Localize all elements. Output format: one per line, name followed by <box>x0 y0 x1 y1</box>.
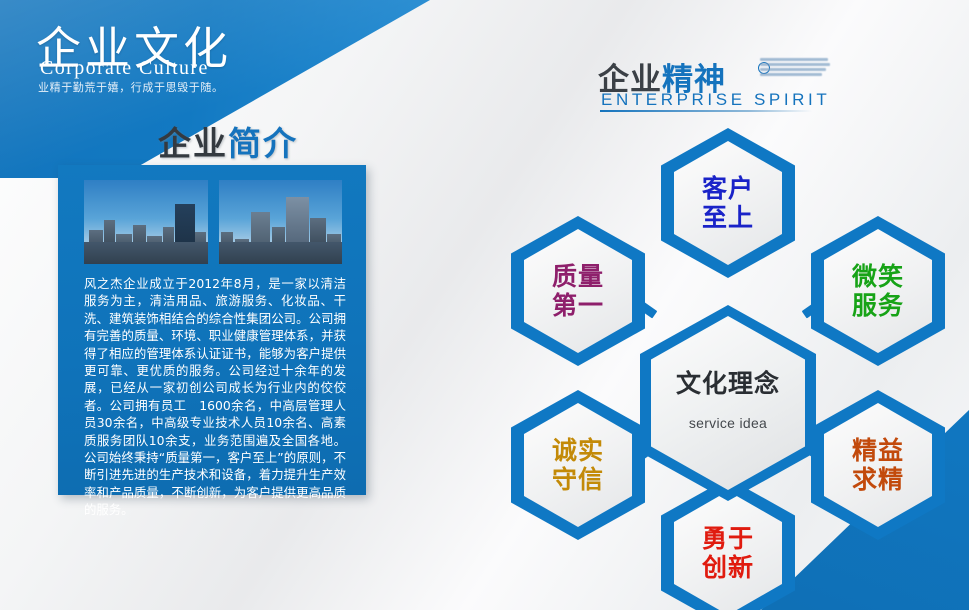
hexagon-quality-first[interactable]: 质量 第一 <box>511 216 645 366</box>
hexagon-smile-service[interactable]: 微笑 服务 <box>811 216 945 366</box>
hex-ul-line2: 第一 <box>552 291 604 320</box>
hex-center-label-en: service idea <box>676 408 780 438</box>
hexagon-center-culture-concept[interactable]: 文化理念 service idea <box>640 305 816 501</box>
section-title-blue: 简介 <box>228 124 298 163</box>
hex-top-line1: 客户 <box>702 174 754 203</box>
hex-ur-line1: 微笑 <box>852 262 904 291</box>
company-profile-text: 风之杰企业成立于2012年8月，是一家以清洁服务为主，清洁用品、旅游服务、化妆品… <box>84 275 346 519</box>
section-title: 企业简介 <box>158 117 298 165</box>
hex-ll-line1: 诚实 <box>552 436 604 465</box>
hexagon-customer-first[interactable]: 客户 至上 <box>661 128 795 278</box>
poster-canvas: 企业文化 Corporate Culture 业精于勤荒于嬉，行成于思毁于随。 … <box>0 0 969 610</box>
cityscape-skyline-photo <box>84 180 208 264</box>
hexagon-honest-trustworthy[interactable]: 诚实 守信 <box>511 390 645 540</box>
header-tagline: 业精于勤荒于嬉，行成于思毁于随。 <box>38 79 224 95</box>
hex-bottom-line1: 勇于 <box>702 524 754 553</box>
skyscraper-towers-photo <box>219 180 343 264</box>
card-photo-row <box>84 180 342 264</box>
hex-bottom-line2: 创新 <box>702 553 754 582</box>
hex-lr-line1: 精益 <box>852 436 904 465</box>
decorative-blurred-text <box>760 58 830 88</box>
hex-ll-line2: 守信 <box>552 465 604 494</box>
header-title-en: Corporate Culture <box>40 57 209 80</box>
hex-lr-line2: 求精 <box>852 465 904 494</box>
hex-top-line2: 至上 <box>702 203 754 232</box>
hex-center-label-cn: 文化理念 <box>676 369 780 399</box>
section-title-dark: 企业 <box>158 124 228 163</box>
hexagon-excellence[interactable]: 精益 求精 <box>811 390 945 540</box>
hex-ul-line1: 质量 <box>552 262 604 291</box>
hexagon-cluster: 客户 至上 质量 第一 微笑 服务 诚实 守信 <box>487 100 969 610</box>
hex-ur-line2: 服务 <box>852 291 904 320</box>
company-profile-card: 风之杰企业成立于2012年8月，是一家以清洁服务为主，清洁用品、旅游服务、化妆品… <box>58 165 366 495</box>
